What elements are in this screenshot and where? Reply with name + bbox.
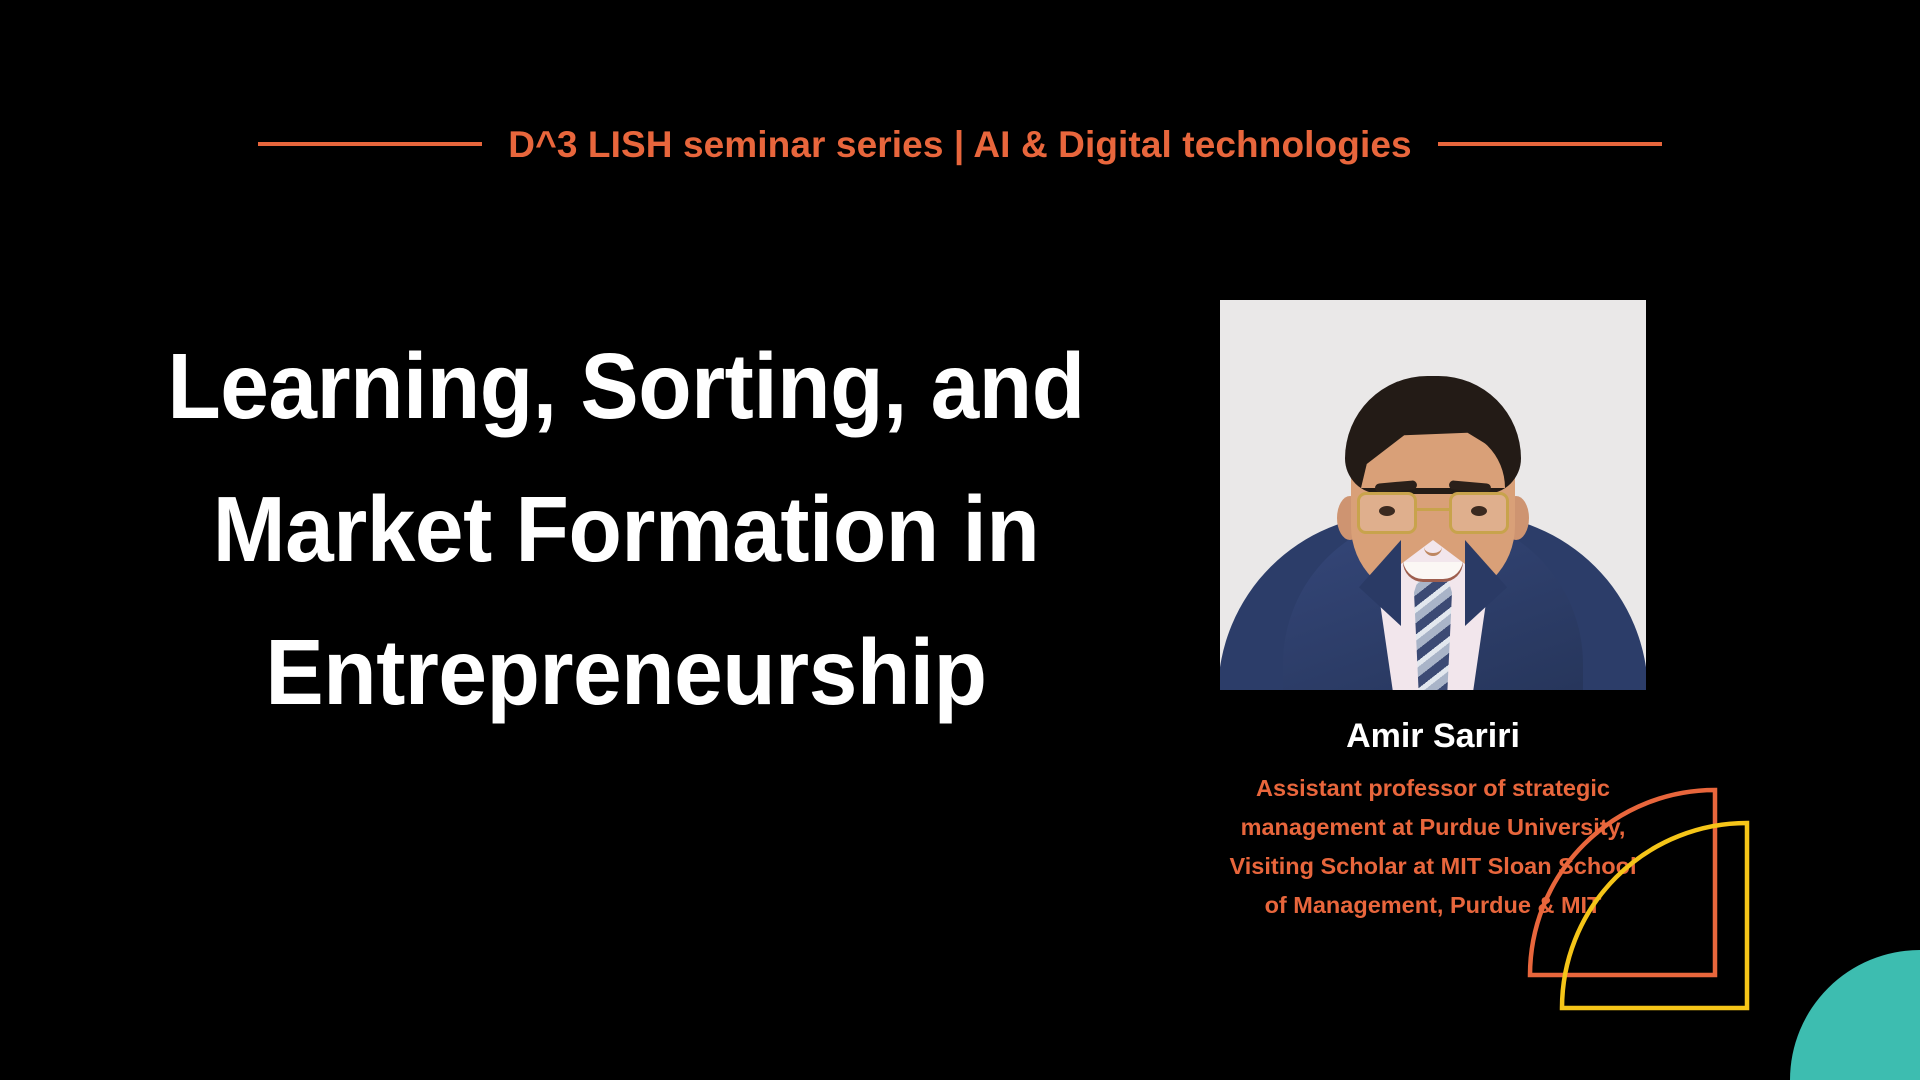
portrait-eye-left [1379,506,1395,516]
presentation-slide: D^3 LISH seminar series | AI & Digital t… [0,0,1920,1080]
title-line-3: Entrepreneurship [128,601,1124,744]
header-rule-right [1438,142,1662,146]
portrait-hair [1345,376,1521,494]
title-line-2: Market Formation in [128,458,1124,601]
portrait-eye-right [1471,506,1487,516]
speaker-card: Amir Sariri Assistant professor of strat… [1220,300,1646,925]
glasses-bridge [1417,508,1449,511]
seminar-series-header: D^3 LISH seminar series | AI & Digital t… [0,112,1920,176]
portrait-glasses [1357,492,1509,538]
portrait-necktie [1414,568,1452,690]
header-rule-left [258,142,482,146]
speaker-photo [1220,300,1646,690]
title-line-1: Learning, Sorting, and [128,315,1124,458]
talk-title: Learning, Sorting, and Market Formation … [96,315,1156,744]
speaker-name: Amir Sariri [1220,716,1646,757]
seminar-series-label: D^3 LISH seminar series | AI & Digital t… [508,126,1411,163]
teal-circle-shape [1790,950,1920,1080]
speaker-affiliation: Assistant professor of strategic managem… [1220,769,1646,925]
